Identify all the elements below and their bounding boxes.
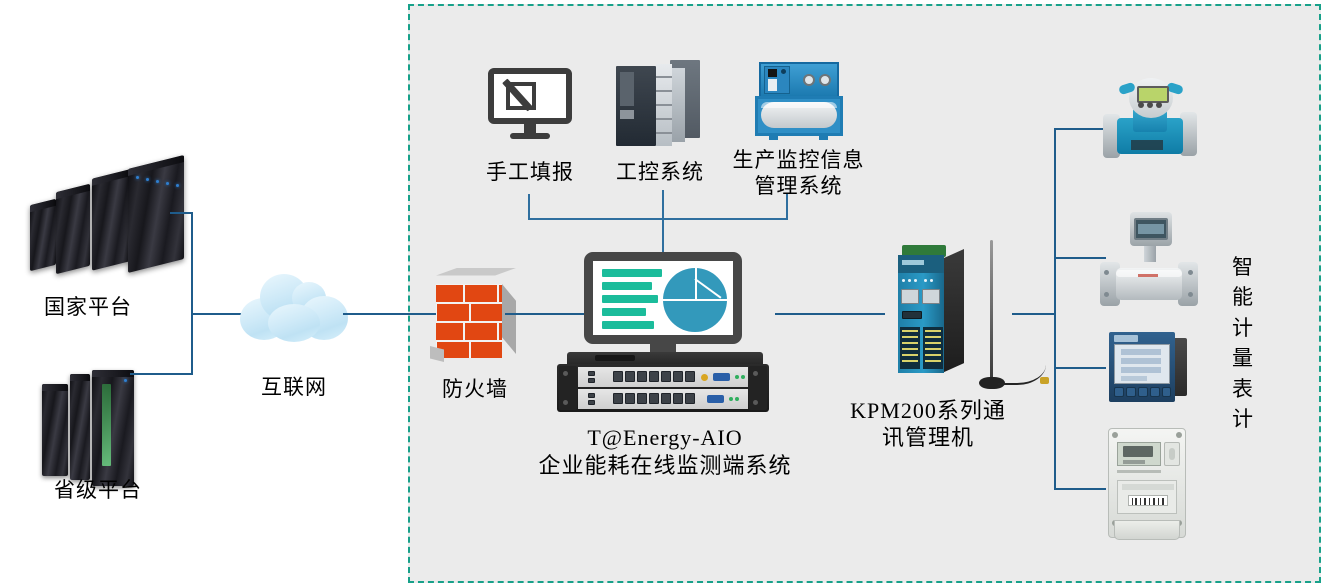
- turbine-flowmeter-icon: [1100, 212, 1198, 306]
- national-platform-server-cluster-icon: [8, 160, 188, 285]
- line-branch-meter-2: [1054, 257, 1106, 259]
- electromagnetic-flowmeter-icon: [1103, 68, 1197, 164]
- line-branch-meter-1: [1054, 128, 1106, 130]
- line-meter-bus-vertical: [1054, 128, 1056, 490]
- line-branch-meter-4: [1054, 488, 1106, 490]
- line-center-to-gateway: [775, 313, 885, 315]
- provincial-platform-server-icon: [38, 370, 158, 490]
- line-firewall-to-center: [505, 313, 585, 315]
- line-provincial-to-trunk: [130, 373, 193, 375]
- firewall-label: 防火墙: [420, 377, 530, 403]
- manual-entry-monitor-icon: [488, 68, 572, 140]
- internet-label: 互联网: [234, 375, 354, 401]
- source-label-production-monitoring: 生产监控信息 管理系统: [716, 148, 881, 199]
- multifunction-power-meter-icon: [1105, 332, 1191, 404]
- line-gateway-to-meter-bus: [1012, 313, 1056, 315]
- line-drop-industrial-control: [662, 190, 664, 220]
- firewall-icon: [430, 268, 522, 362]
- production-monitoring-compressor-icon: [755, 62, 843, 140]
- line-branch-meter-3: [1054, 367, 1106, 369]
- architecture-diagram: 国家平台 省级平台 互联网: [0, 0, 1325, 587]
- national-platform-label: 国家平台: [18, 295, 158, 321]
- line-trunk-vertical: [191, 212, 193, 374]
- antenna-icon: [990, 240, 993, 380]
- provincial-platform-label: 省级平台: [28, 478, 168, 504]
- center-product-subtitle: 企业能耗在线监测端系统: [515, 453, 815, 480]
- plc-industrial-control-icon: [612, 58, 704, 146]
- gateway-label: KPM200系列通 讯管理机: [838, 398, 1018, 452]
- line-bus-to-center-monitor: [662, 218, 664, 254]
- smart-electricity-meter-icon: [1108, 428, 1186, 544]
- line-drop-manual-entry: [528, 194, 530, 220]
- source-label-manual-entry: 手工填报: [470, 160, 590, 186]
- rack-server-2u-icon: [557, 352, 769, 414]
- center-product-name: T@Energy-AIO: [560, 425, 770, 452]
- line-sources-bus: [528, 218, 788, 220]
- line-drop-production-monitoring: [786, 194, 788, 220]
- line-national-to-trunk: [170, 212, 193, 214]
- kpm200-communication-gateway-icon: [880, 255, 1040, 405]
- meters-group-label: 智能计量表计: [1228, 252, 1258, 435]
- internet-cloud-icon: [238, 268, 350, 344]
- source-label-industrial-control: 工控系统: [600, 160, 720, 186]
